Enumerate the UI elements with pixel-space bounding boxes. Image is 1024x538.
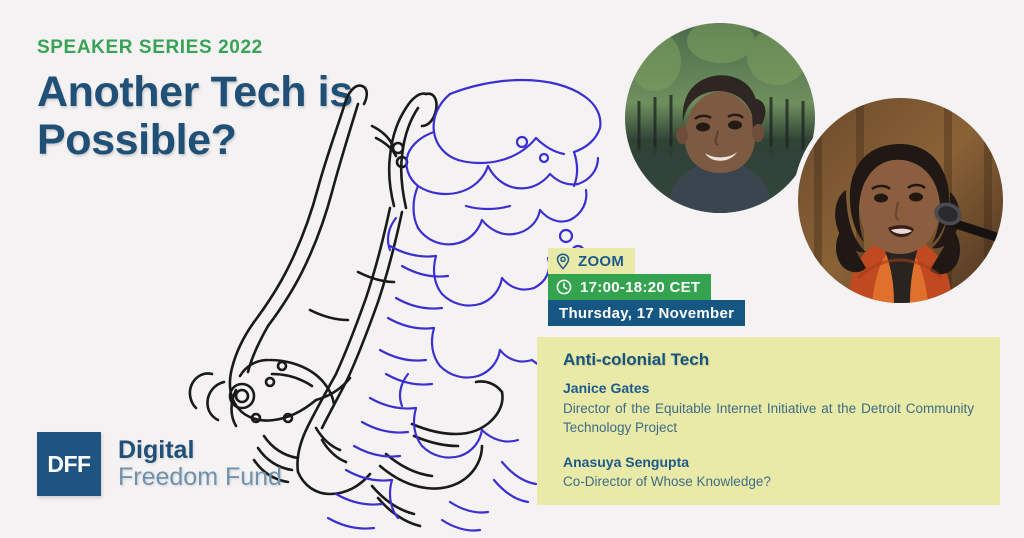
speaker-entry: Anasuya Sengupta Co-Director of Whose Kn… bbox=[563, 454, 974, 492]
clock-icon bbox=[556, 279, 572, 295]
speaker-name: Anasuya Sengupta bbox=[563, 454, 974, 472]
speaker-role: Co-Director of Whose Knowledge? bbox=[563, 472, 974, 492]
dff-logo-mark: DFF bbox=[37, 432, 101, 496]
badge-location: ZOOM bbox=[548, 248, 635, 274]
badge-date-label: Thursday, 17 November bbox=[559, 305, 734, 322]
badge-date: Thursday, 17 November bbox=[548, 300, 745, 326]
panel-title: Anti-colonial Tech bbox=[563, 350, 974, 370]
series-eyebrow: SPEAKER SERIES 2022 bbox=[37, 38, 367, 59]
location-pin-icon bbox=[556, 253, 570, 270]
speaker-role: Director of the Equitable Internet Initi… bbox=[563, 399, 974, 438]
page-title: Another Tech is Possible? bbox=[37, 68, 367, 164]
event-poster: SPEAKER SERIES 2022 Another Tech is Poss… bbox=[0, 0, 1024, 538]
dff-logo-mark-text: DFF bbox=[47, 451, 90, 478]
portrait-janice-gates bbox=[625, 23, 815, 213]
event-details-badges: ZOOM 17:00-18:20 CET Thursday, 17 Novemb… bbox=[548, 248, 745, 326]
dff-logo: DFF Digital Freedom Fund bbox=[37, 432, 282, 496]
speakers-panel: Anti-colonial Tech Janice Gates Director… bbox=[537, 337, 1000, 505]
portrait-anasuya-sengupta bbox=[798, 98, 1003, 303]
dff-logo-line-1: Digital bbox=[118, 437, 282, 464]
badge-location-label: ZOOM bbox=[578, 253, 624, 270]
badge-time: 17:00-18:20 CET bbox=[548, 274, 711, 300]
badge-time-label: 17:00-18:20 CET bbox=[580, 279, 700, 296]
dff-logo-line-2: Freedom Fund bbox=[118, 464, 282, 491]
speaker-entry: Janice Gates Director of the Equitable I… bbox=[563, 380, 974, 438]
headline-block: SPEAKER SERIES 2022 Another Tech is Poss… bbox=[37, 38, 367, 164]
speaker-name: Janice Gates bbox=[563, 380, 974, 398]
dff-logo-wordmark: Digital Freedom Fund bbox=[118, 437, 282, 491]
